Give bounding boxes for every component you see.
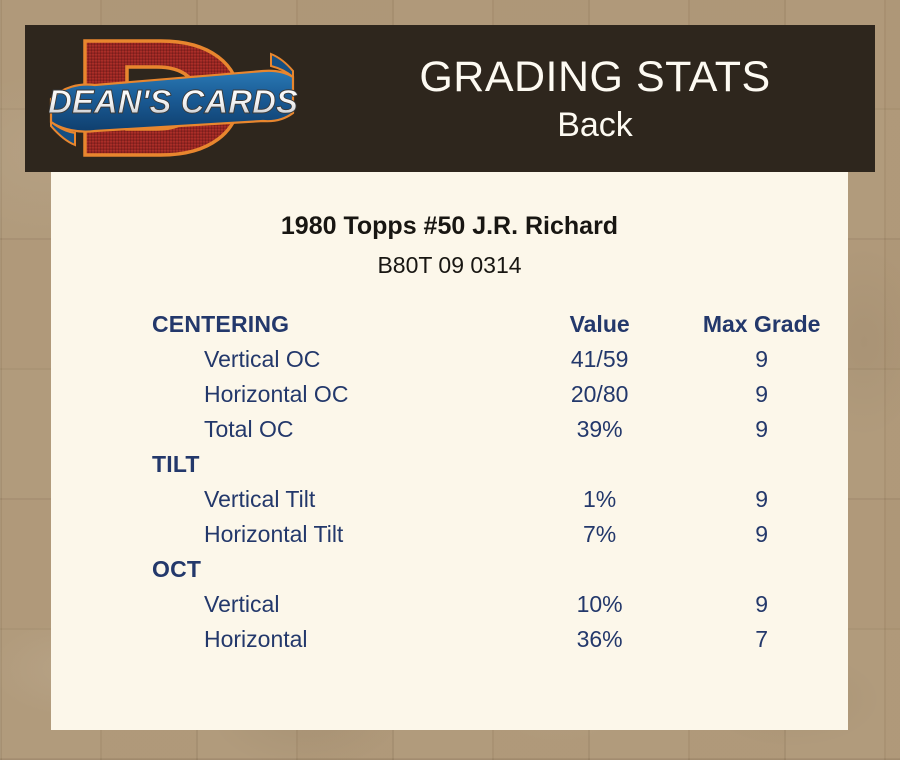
stats-row-label: Horizontal OC xyxy=(51,377,524,412)
stats-section-label: OCT xyxy=(51,552,524,587)
stats-data-row: Vertical Tilt1%9 xyxy=(51,482,848,517)
stats-data-row: Vertical10%9 xyxy=(51,587,848,622)
stats-row-grade xyxy=(675,447,848,482)
stats-row-grade: 9 xyxy=(675,587,848,622)
stats-row-value: 1% xyxy=(524,482,675,517)
stats-row-value: 7% xyxy=(524,517,675,552)
grading-stats-body: CENTERINGValueMax GradeVertical OC41/599… xyxy=(51,307,848,657)
stats-section-label: CENTERING xyxy=(51,307,524,342)
header-title-block: GRADING STATS Back xyxy=(315,25,875,172)
logo-banner-text: DEAN'S CARDS xyxy=(49,83,298,120)
stats-row-value: 10% xyxy=(524,587,675,622)
stats-data-row: Vertical OC41/599 xyxy=(51,342,848,377)
stats-row-label: Horizontal xyxy=(51,622,524,657)
deans-cards-logo-svg: DEAN'S CARDS xyxy=(49,27,299,169)
page-subtitle: Back xyxy=(557,104,633,146)
stats-section-label: TILT xyxy=(51,447,524,482)
stats-data-row: Horizontal OC20/809 xyxy=(51,377,848,412)
stats-row-label: Vertical xyxy=(51,587,524,622)
stats-row-value: 39% xyxy=(524,412,675,447)
deans-cards-logo[interactable]: DEAN'S CARDS xyxy=(49,27,299,169)
stats-row-grade: 9 xyxy=(675,342,848,377)
stats-row-value: Value xyxy=(524,307,675,342)
stats-row-grade: 9 xyxy=(675,482,848,517)
stats-row-grade: 9 xyxy=(675,412,848,447)
header-bar: DEAN'S CARDS GRADING STATS Back xyxy=(25,25,875,172)
stats-row-label: Vertical Tilt xyxy=(51,482,524,517)
stats-row-grade: Max Grade xyxy=(675,307,848,342)
card-title: 1980 Topps #50 J.R. Richard xyxy=(51,211,848,241)
stats-row-value: 41/59 xyxy=(524,342,675,377)
stats-data-row: Horizontal Tilt7%9 xyxy=(51,517,848,552)
stats-row-grade: 9 xyxy=(675,517,848,552)
stats-row-grade xyxy=(675,552,848,587)
stats-row-grade: 7 xyxy=(675,622,848,657)
stats-row-grade: 9 xyxy=(675,377,848,412)
stats-row-label: Vertical OC xyxy=(51,342,524,377)
card-serial-number: B80T 09 0314 xyxy=(51,251,848,279)
stats-section-row: TILT xyxy=(51,447,848,482)
stats-row-label: Total OC xyxy=(51,412,524,447)
grading-stats-table: CENTERINGValueMax GradeVertical OC41/599… xyxy=(51,307,848,657)
stats-data-row: Horizontal36%7 xyxy=(51,622,848,657)
page-title: GRADING STATS xyxy=(419,52,770,102)
stats-row-value xyxy=(524,552,675,587)
stats-row-value xyxy=(524,447,675,482)
content-panel: 1980 Topps #50 J.R. Richard B80T 09 0314… xyxy=(51,172,848,730)
stats-row-value: 36% xyxy=(524,622,675,657)
stats-section-row: OCT xyxy=(51,552,848,587)
stats-row-label: Horizontal Tilt xyxy=(51,517,524,552)
stats-data-row: Total OC39%9 xyxy=(51,412,848,447)
stats-row-value: 20/80 xyxy=(524,377,675,412)
stats-section-row: CENTERINGValueMax Grade xyxy=(51,307,848,342)
